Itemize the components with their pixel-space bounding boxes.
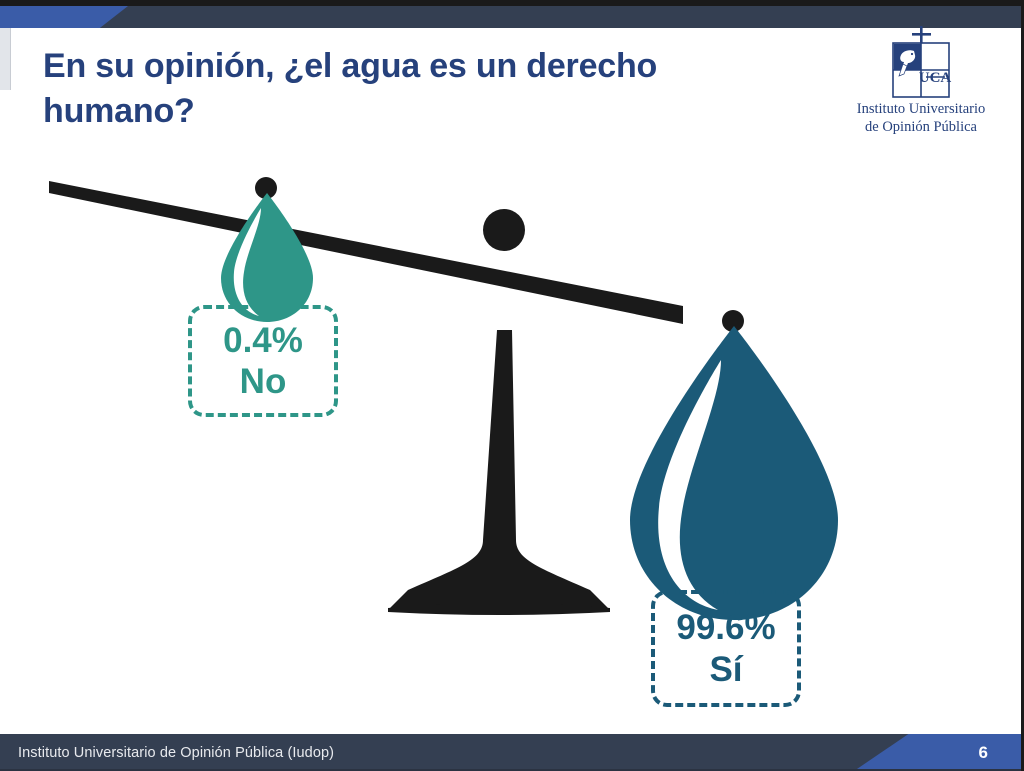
- scale-beam: [49, 181, 683, 324]
- logo-text-line1: Instituto Universitario: [846, 100, 996, 118]
- callout-no: 0.4% No: [188, 305, 338, 417]
- slide: En su opinión, ¿el agua es un derecho hu…: [0, 0, 1024, 771]
- callout-no-percent: 0.4%: [223, 321, 303, 360]
- drop-body-teal: [221, 193, 313, 322]
- dove-eye: [911, 53, 913, 55]
- logo-shield-icon: UCA: [846, 24, 996, 98]
- callout-si: 99.6% Sí: [651, 590, 801, 707]
- balance-scale-svg: [0, 120, 1024, 650]
- scale-fulcrum: [483, 209, 525, 251]
- scale-stand: [390, 330, 608, 608]
- cross-bar: [912, 33, 931, 36]
- page-number: 6: [979, 734, 988, 771]
- water-drop-large-blue: [630, 326, 838, 620]
- footer-text: Instituto Universitario de Opinión Públi…: [18, 734, 334, 771]
- callout-si-label: Sí: [709, 650, 742, 689]
- left-edge-tab: [0, 28, 11, 90]
- callout-no-label: No: [240, 362, 287, 401]
- balance-scale-figure: [0, 120, 1024, 650]
- logo-acronym: UCA: [919, 70, 952, 86]
- water-drop-small-teal: [221, 193, 313, 322]
- drop-body-blue: [630, 326, 838, 620]
- callout-si-percent: 99.6%: [676, 608, 775, 647]
